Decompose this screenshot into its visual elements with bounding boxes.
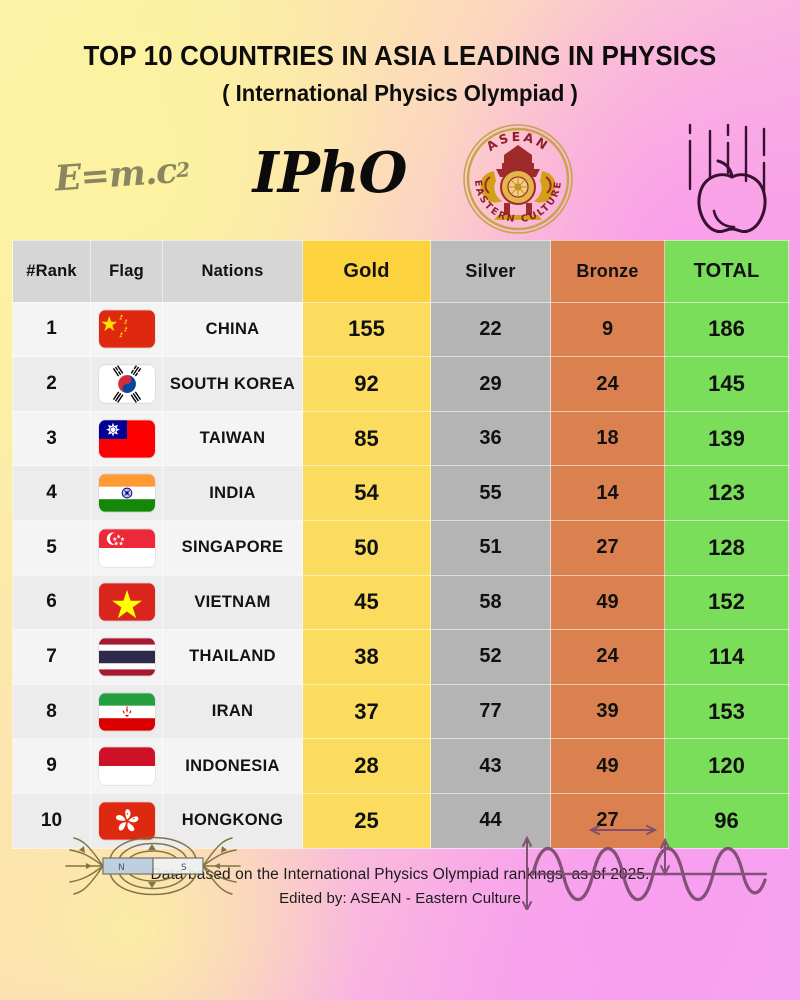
cell-flag (91, 411, 163, 466)
table-row[interactable]: 8 IRAN377739153 (13, 684, 789, 739)
cell-silver: 43 (431, 739, 551, 794)
flag-south-korea-icon (99, 365, 155, 403)
flag-china-icon (99, 310, 155, 348)
sine-wave-icon (515, 818, 780, 910)
column-header-rank[interactable]: #Rank (13, 240, 91, 302)
cell-silver: 58 (431, 575, 551, 630)
cell-silver: 52 (431, 630, 551, 685)
flag-taiwan-icon (99, 420, 155, 458)
infographic-footer: N S Data based on the International Phys… (0, 863, 800, 910)
magnet-field-doodle: N S (48, 820, 258, 912)
ipho-wordmark-text: IPhO (253, 140, 407, 206)
cell-silver: 29 (431, 357, 551, 412)
cell-flag (91, 466, 163, 521)
cell-gold: 28 (303, 739, 431, 794)
table-row[interactable]: 7 THAILAND385224114 (13, 630, 789, 685)
page-title: TOP 10 COUNTRIES IN ASIA LEADING IN PHYS… (24, 40, 776, 72)
cell-rank: 7 (13, 630, 91, 685)
cell-total: 153 (665, 684, 789, 739)
column-header-nations[interactable]: Nations (163, 240, 303, 302)
magnet-field-icon: N S (48, 820, 258, 912)
cell-bronze: 49 (551, 739, 665, 794)
cell-gold: 37 (303, 684, 431, 739)
cell-bronze: 39 (551, 684, 665, 739)
cell-flag (91, 521, 163, 576)
flag-indonesia-icon (99, 747, 155, 785)
cell-total: 123 (665, 466, 789, 521)
ranking-table-head: #Rank Flag Nations Gold Silver Bronze TO… (13, 240, 789, 302)
equation-exponent: 2 (175, 157, 190, 182)
cell-gold: 25 (303, 793, 431, 848)
table-row[interactable]: 6 VIETNAM455849152 (13, 575, 789, 630)
cell-nation: INDIA (163, 466, 303, 521)
cell-rank: 3 (13, 411, 91, 466)
cell-total: 145 (665, 357, 789, 412)
cell-nation: INDONESIA (163, 739, 303, 794)
ipho-wordmark: IPhO (232, 133, 427, 213)
flag-thailand-icon (99, 638, 155, 676)
cell-nation: THAILAND (163, 630, 303, 685)
cell-gold: 50 (303, 521, 431, 576)
ranking-table-container: #Rank Flag Nations Gold Silver Bronze TO… (12, 240, 788, 849)
cell-total: 114 (665, 630, 789, 685)
table-row[interactable]: 4 INDIA545514123 (13, 466, 789, 521)
column-header-flag[interactable]: Flag (91, 240, 163, 302)
cell-flag (91, 684, 163, 739)
cell-gold: 38 (303, 630, 431, 685)
cell-gold: 85 (303, 411, 431, 466)
flag-india-icon (99, 474, 155, 512)
cell-flag (91, 575, 163, 630)
asean-logo-icon: ASEAN EASTERN CULTURE (458, 119, 578, 239)
cell-bronze: 27 (551, 521, 665, 576)
magnet-south-label: S (181, 863, 187, 873)
ranking-table: #Rank Flag Nations Gold Silver Bronze TO… (12, 240, 789, 849)
flag-singapore-icon (99, 529, 155, 567)
column-header-bronze[interactable]: Bronze (551, 240, 665, 302)
column-header-silver[interactable]: Silver (431, 240, 551, 302)
magnet-north-label: N (118, 863, 125, 873)
table-row[interactable]: 5 SINGAPORE505127128 (13, 521, 789, 576)
cell-bronze: 9 (551, 302, 665, 357)
cell-rank: 6 (13, 575, 91, 630)
equation-text: E=m.c (53, 149, 177, 198)
cell-rank: 8 (13, 684, 91, 739)
page-subtitle: ( International Physics Olympiad ) (16, 80, 784, 107)
table-row[interactable]: 3 TAIWAN853618139 (13, 411, 789, 466)
table-row[interactable]: 2 SOUTH KOREA922924145 (13, 357, 789, 412)
cell-rank: 2 (13, 357, 91, 412)
cell-nation: CHINA (163, 302, 303, 357)
cell-bronze: 18 (551, 411, 665, 466)
cell-gold: 45 (303, 575, 431, 630)
cell-rank: 5 (13, 521, 91, 576)
cell-gold: 155 (303, 302, 431, 357)
cell-gold: 92 (303, 357, 431, 412)
cell-nation: IRAN (163, 684, 303, 739)
cell-total: 186 (665, 302, 789, 357)
cell-rank: 1 (13, 302, 91, 357)
table-row[interactable]: 9INDONESIA284349120 (13, 739, 789, 794)
cell-total: 120 (665, 739, 789, 794)
cell-nation: SOUTH KOREA (163, 357, 303, 412)
cell-silver: 36 (431, 411, 551, 466)
falling-apple-icon (668, 115, 788, 239)
cell-total: 128 (665, 521, 789, 576)
sine-wave-doodle (515, 818, 780, 910)
cell-flag (91, 630, 163, 685)
cell-nation: TAIWAN (163, 411, 303, 466)
cell-bronze: 24 (551, 357, 665, 412)
falling-apple-doodle (668, 115, 788, 239)
cell-flag (91, 357, 163, 412)
column-header-total[interactable]: TOTAL (665, 240, 789, 302)
mass-energy-equation-doodle: E=m.c2 (20, 132, 224, 216)
table-row[interactable]: 1 CHINA155229186 (13, 302, 789, 357)
cell-nation: VIETNAM (163, 575, 303, 630)
cell-rank: 4 (13, 466, 91, 521)
cell-silver: 51 (431, 521, 551, 576)
cell-bronze: 14 (551, 466, 665, 521)
cell-rank: 9 (13, 739, 91, 794)
cell-gold: 54 (303, 466, 431, 521)
table-header-row: #Rank Flag Nations Gold Silver Bronze TO… (13, 240, 789, 302)
asean-eastern-culture-logo: ASEAN EASTERN CULTURE (458, 119, 578, 239)
column-header-gold[interactable]: Gold (303, 240, 431, 302)
motif-row: E=m.c2 IPhO (0, 113, 800, 231)
ranking-table-body: 1 CHINA1552291862 SOUTH KOREA9229241453 … (13, 302, 789, 848)
cell-silver: 22 (431, 302, 551, 357)
cell-total: 152 (665, 575, 789, 630)
flag-vietnam-icon (99, 583, 155, 621)
cell-total: 139 (665, 411, 789, 466)
cell-nation: SINGAPORE (163, 521, 303, 576)
infographic-header: TOP 10 COUNTRIES IN ASIA LEADING IN PHYS… (0, 0, 800, 107)
cell-flag (91, 302, 163, 357)
cell-bronze: 24 (551, 630, 665, 685)
cell-silver: 55 (431, 466, 551, 521)
cell-silver: 77 (431, 684, 551, 739)
flag-iran-icon (99, 693, 155, 731)
cell-bronze: 49 (551, 575, 665, 630)
cell-flag (91, 739, 163, 794)
